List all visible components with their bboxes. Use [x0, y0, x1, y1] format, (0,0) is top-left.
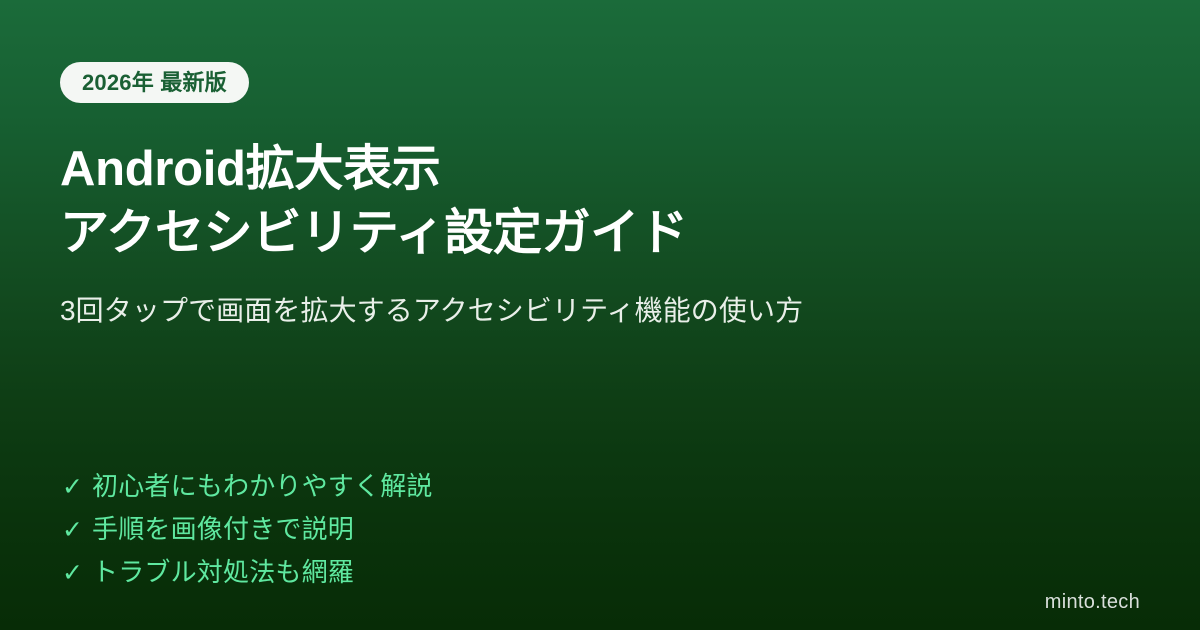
list-item-label: 初心者にもわかりやすく解説	[92, 473, 433, 499]
check-icon: ✓	[62, 475, 92, 500]
list-item-label: 手順を画像付きで説明	[92, 516, 354, 542]
og-image-card: 2026年 最新版 Android拡大表示 アクセシビリティ設定ガイド 3回タッ…	[0, 0, 1200, 630]
page-subtitle: 3回タップで画面を拡大するアクセシビリティ機能の使い方	[60, 292, 803, 330]
list-item: ✓ 手順を画像付きで説明	[62, 516, 433, 559]
status-badge: 2026年 最新版	[60, 62, 249, 103]
page-title: Android拡大表示 アクセシビリティ設定ガイド	[60, 138, 1140, 265]
check-icon: ✓	[62, 518, 92, 543]
site-brand: minto.tech	[1045, 590, 1140, 614]
page-title-line-1: Android拡大表示	[60, 138, 1140, 202]
list-item-label: トラブル対処法も網羅	[92, 559, 354, 585]
list-item: ✓ 初心者にもわかりやすく解説	[62, 473, 433, 516]
list-item: ✓ トラブル対処法も網羅	[62, 559, 433, 602]
feature-checklist: ✓ 初心者にもわかりやすく解説 ✓ 手順を画像付きで説明 ✓ トラブル対処法も網…	[62, 473, 433, 602]
page-title-line-2: アクセシビリティ設定ガイド	[60, 202, 1140, 266]
status-badge-label: 2026年 最新版	[82, 72, 227, 94]
check-icon: ✓	[62, 561, 92, 586]
